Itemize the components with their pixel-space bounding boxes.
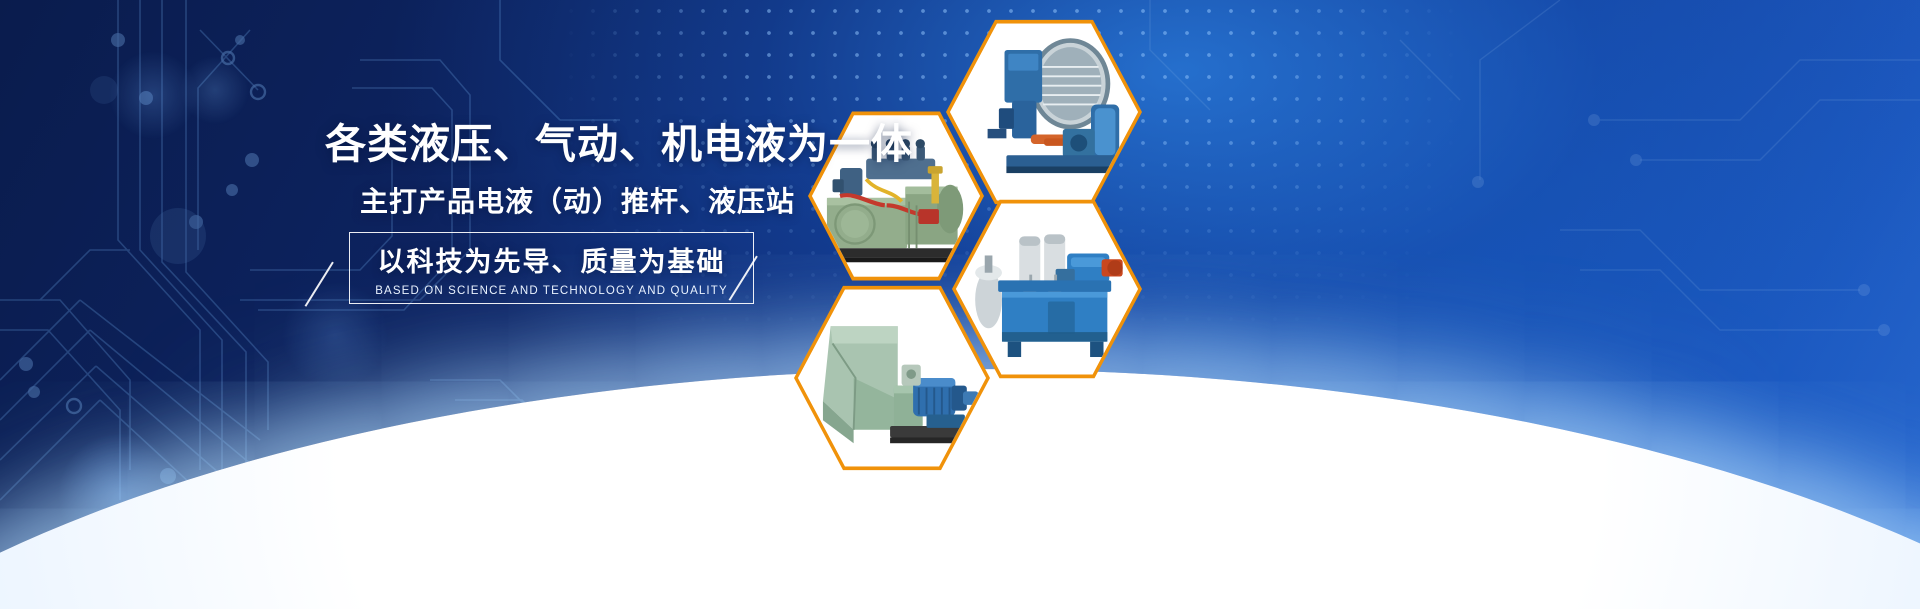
page-title: 各类液压、气动、机电液为一体 [325, 120, 795, 168]
hex-inner-frame [956, 200, 1138, 378]
hex-photo-butterfly-valve [946, 16, 1142, 208]
slogan-box: 以科技为先导、质量为基础 BASED ON SCIENCE AND TECHNO… [349, 232, 754, 304]
slogan-left-slash [305, 262, 334, 307]
hydraulic-power-unit-image [956, 200, 1138, 378]
hex-inner-frame [950, 20, 1138, 204]
slogan-chinese: 以科技为先导、质量为基础 [378, 240, 726, 279]
page-subtitle: 主打产品电液（动）推杆、液压站 [325, 180, 795, 220]
glow-blob [108, 50, 198, 140]
slogan-english: BASED ON SCIENCE AND TECHNOLOGY AND QUAL… [375, 285, 728, 297]
glow-blob [180, 55, 250, 125]
butterfly-valve-image [950, 20, 1138, 204]
hero-banner: 各类液压、气动、机电液为一体 主打产品电液（动）推杆、液压站 以科技为先导、质量… [0, 0, 1920, 609]
hex-photo-hydraulic-power-unit [952, 196, 1142, 382]
hero-copy: 各类液压、气动、机电液为一体 主打产品电液（动）推杆、液压站 [325, 120, 795, 220]
